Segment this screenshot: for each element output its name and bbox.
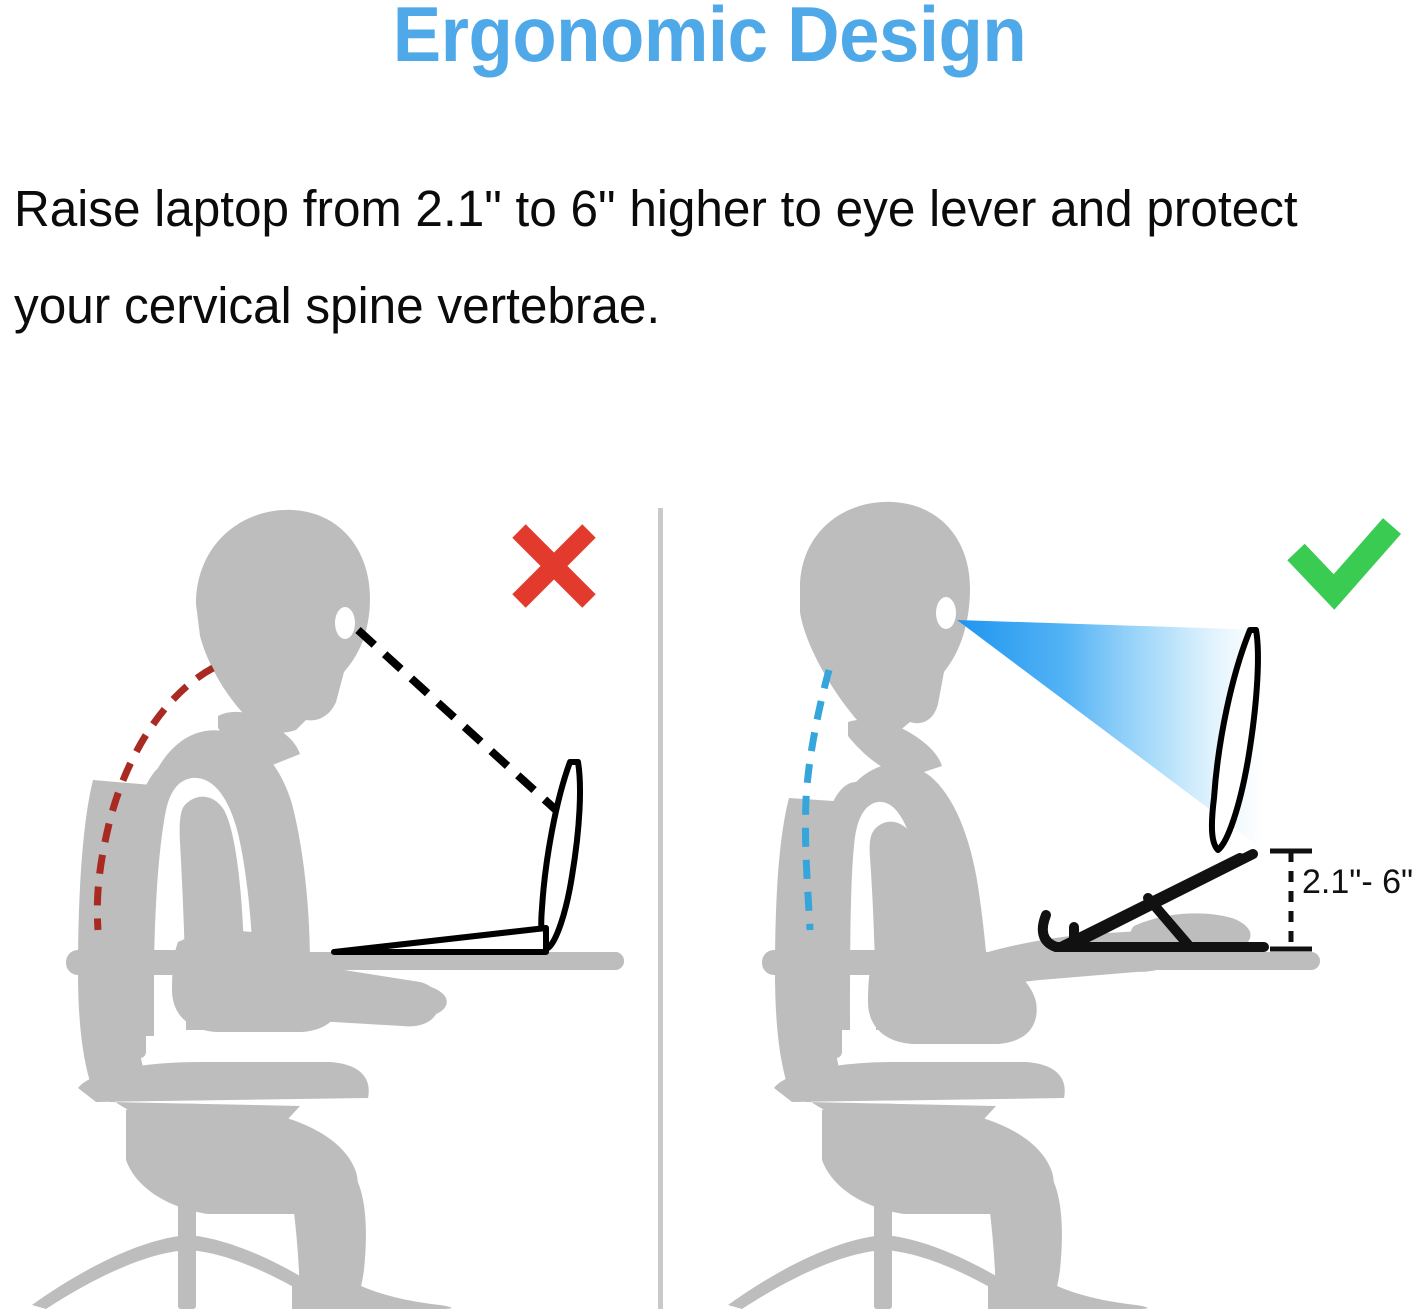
page-title: Ergonomic Design [50, 0, 1370, 76]
cross-mark-icon [519, 531, 589, 601]
header: Ergonomic Design Raise laptop from 2.1" … [0, 0, 1419, 330]
desk-right [930, 952, 1320, 970]
illustration-area [0, 330, 1419, 1309]
infographic-page: Ergonomic Design Raise laptop from 2.1" … [0, 0, 1419, 1309]
panel-bad-posture [32, 510, 624, 1309]
figure-left-body [118, 510, 452, 1309]
check-mark-icon [1296, 526, 1392, 592]
eye-left [335, 607, 355, 639]
page-subtitle: Raise laptop from 2.1" to 6" higher to e… [14, 160, 1362, 354]
laptop-left [334, 762, 580, 952]
subtitle-line-1: Raise laptop from 2.1" to 6" higher to e… [14, 160, 1362, 257]
panel-good-posture [728, 502, 1392, 1309]
gaze-line-bad [358, 630, 556, 810]
panel-divider [658, 508, 663, 1309]
dimension-label: 2.1"- 6" [1302, 863, 1413, 902]
eye-right [936, 597, 956, 629]
